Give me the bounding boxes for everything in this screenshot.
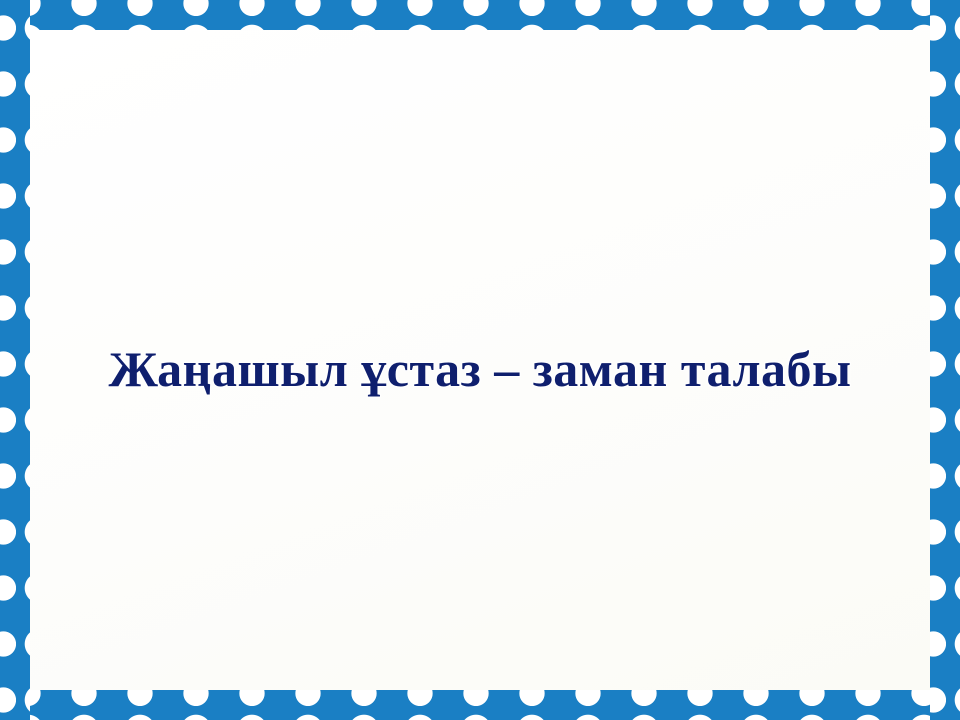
swoosh-decoration-medium [283, 348, 930, 690]
border-top [0, 0, 960, 30]
swoosh-decoration-small [388, 399, 930, 690]
slide-title: Жаңашыл ұстаз – заман талабы [0, 340, 960, 398]
border-bottom [0, 690, 960, 720]
presentation-slide: http://MuzKoBKilmet.ru [0, 0, 960, 720]
